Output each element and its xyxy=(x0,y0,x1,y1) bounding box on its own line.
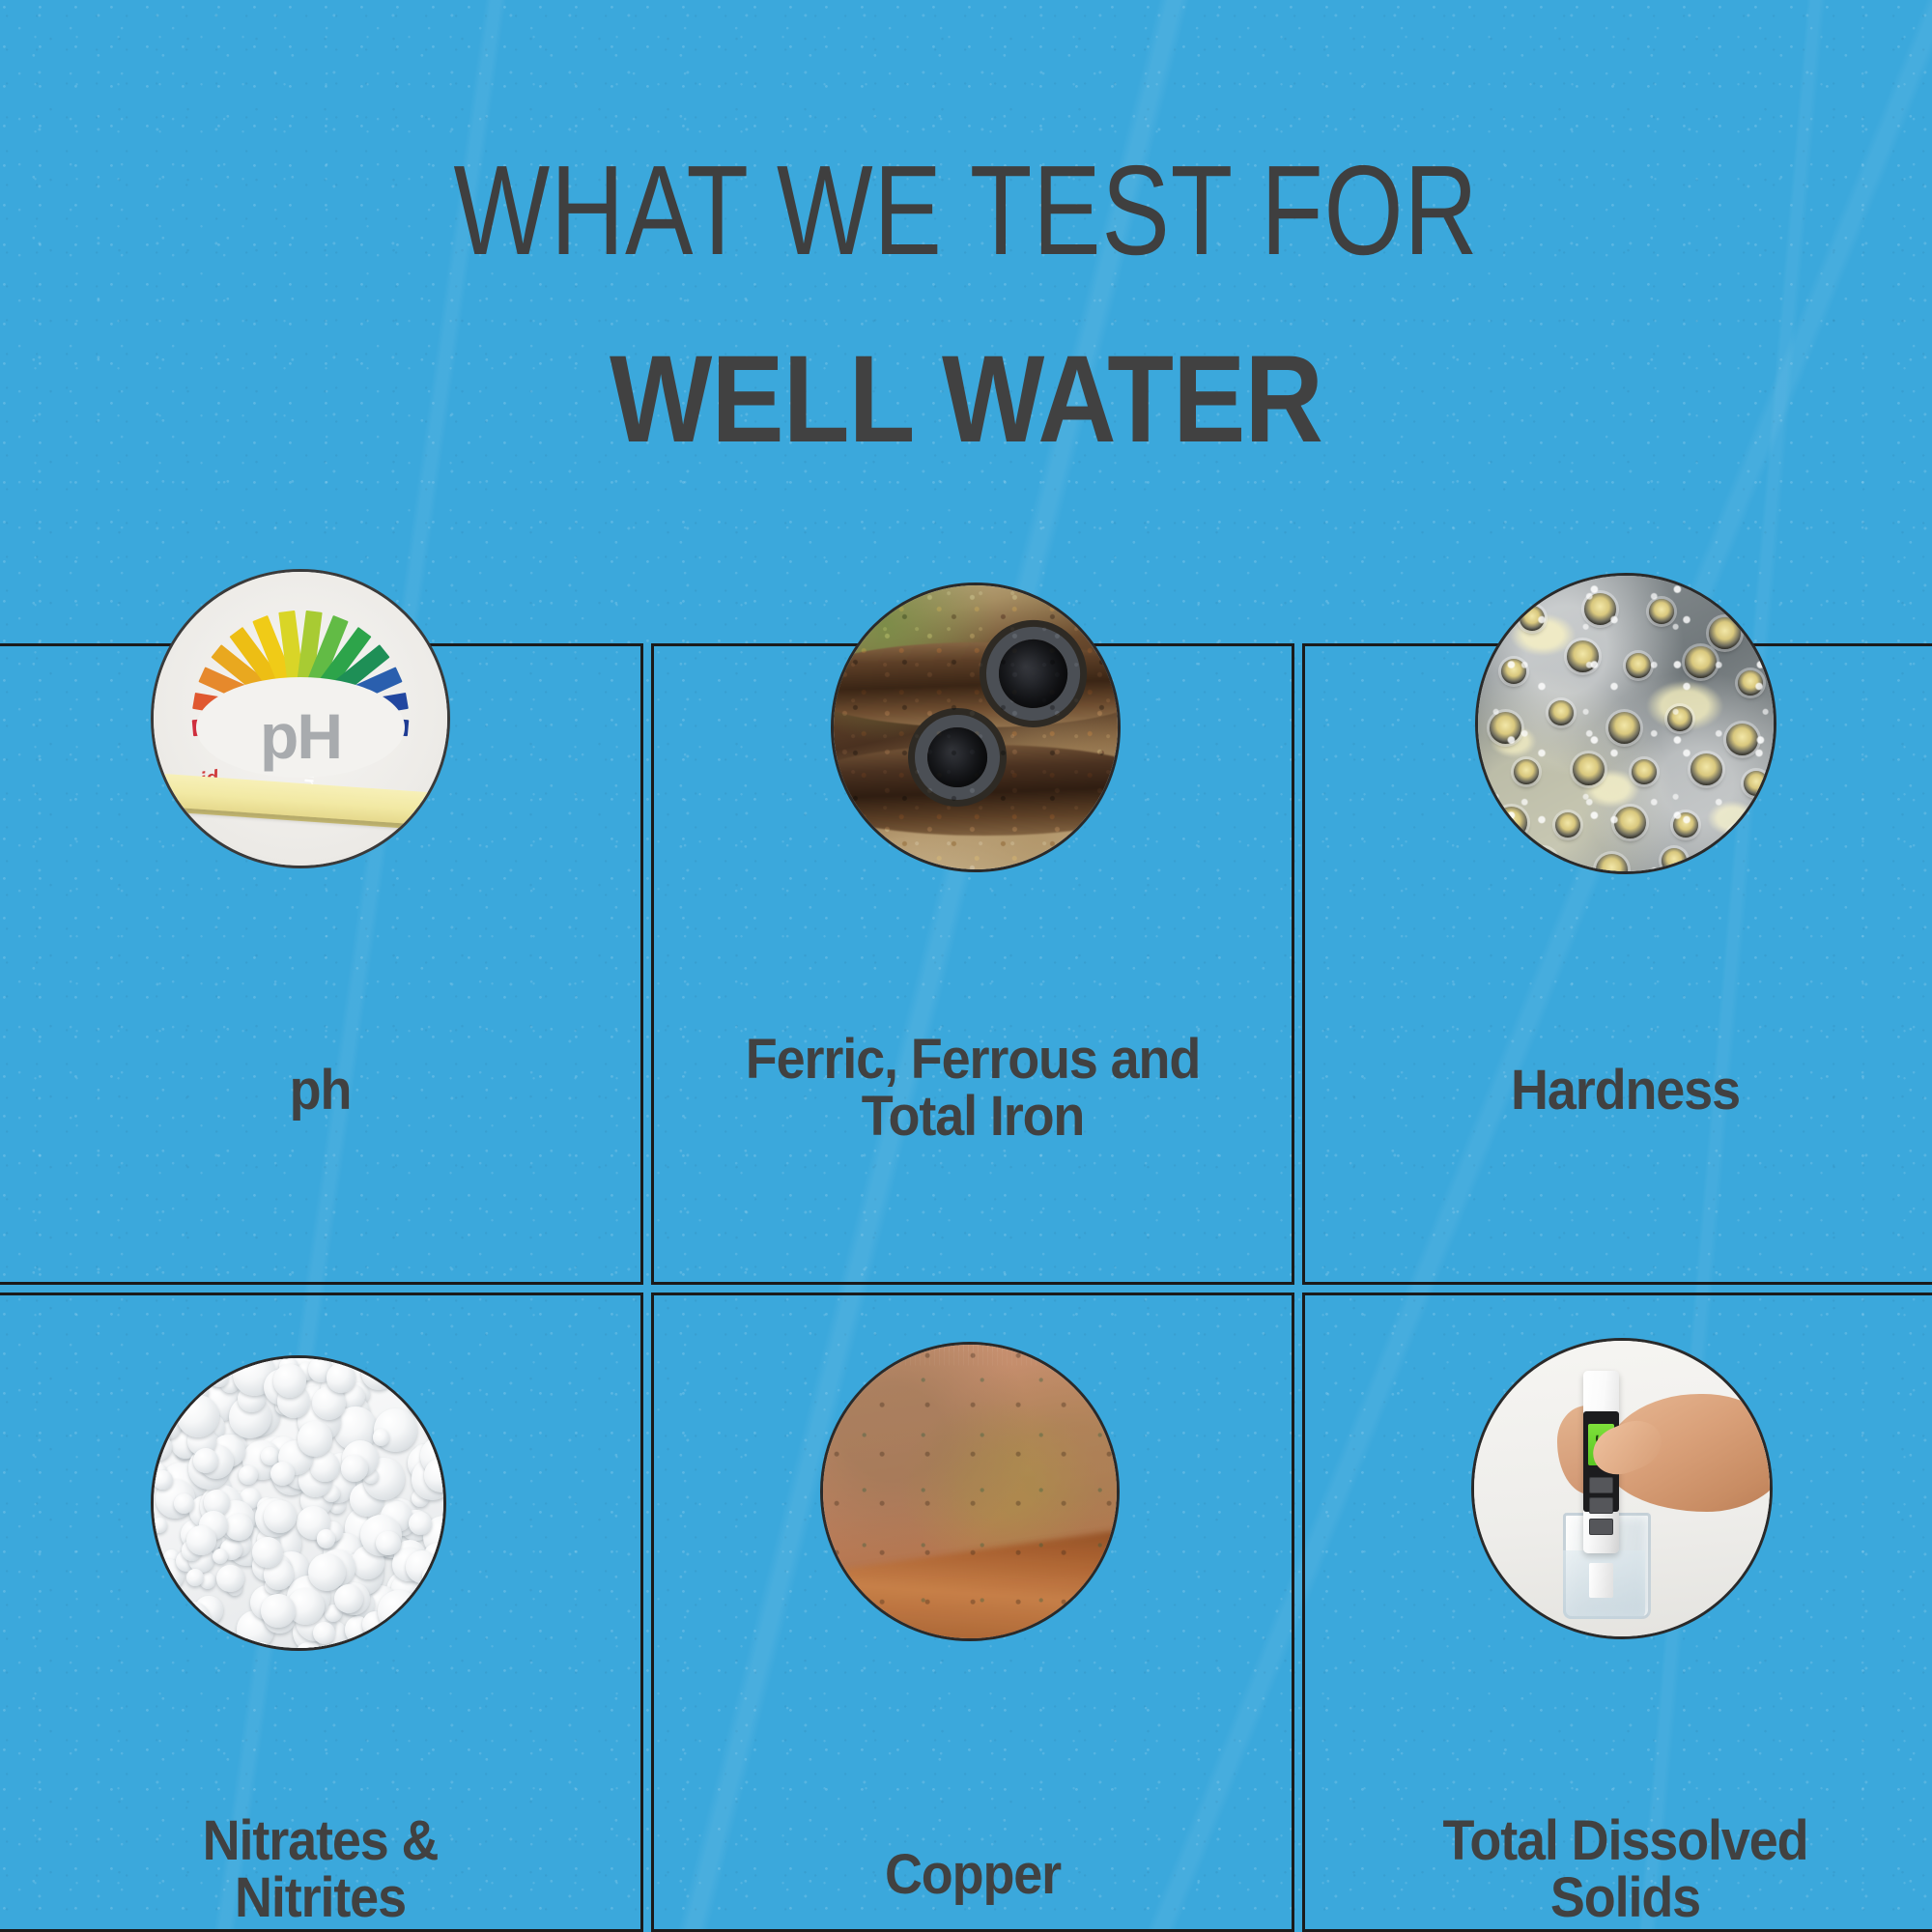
caption-iron-line1: Ferric, Ferrous and xyxy=(746,1028,1200,1091)
prill xyxy=(419,1591,444,1616)
prill xyxy=(341,1455,368,1482)
rusty-corroded-pipe-photo xyxy=(831,582,1121,872)
prill xyxy=(270,1462,296,1487)
prill xyxy=(298,1421,332,1456)
prill xyxy=(181,1359,205,1383)
caption-iron-line2: Total Iron xyxy=(862,1085,1085,1148)
prill xyxy=(376,1531,400,1555)
grid-cell-copper[interactable]: Copper xyxy=(651,1293,1294,1932)
prill xyxy=(409,1512,432,1535)
white-fertilizer-prills-photo xyxy=(151,1355,446,1651)
caption-hardness: Hardness xyxy=(1327,1062,1923,1119)
caption-tds-line2: Solids xyxy=(1550,1866,1700,1929)
prill xyxy=(252,1537,283,1568)
prill xyxy=(186,1569,204,1586)
grid-cell-hardness[interactable]: Hardness xyxy=(1302,643,1932,1285)
prill xyxy=(373,1429,390,1446)
limescale-shower-head-photo xyxy=(1475,573,1776,874)
prill xyxy=(216,1565,243,1592)
tds-meter-in-glass-photo: 32 xyxy=(1471,1338,1773,1639)
prill xyxy=(186,1525,216,1555)
prill xyxy=(378,1590,420,1633)
caption-nitrates-line1: Nitrates & xyxy=(203,1809,439,1872)
grid-cell-ph[interactable]: 12345678910111213undefined pH Acid Alkal… xyxy=(0,643,643,1285)
header: WHAT WE TEST FOR WELL WATER xyxy=(0,0,1932,638)
prill xyxy=(384,1356,418,1390)
caption-tds-line1: Total Dissolved xyxy=(1443,1809,1808,1872)
prill xyxy=(225,1514,253,1542)
prill xyxy=(209,1367,229,1387)
caption-nitrates-line2: Nitrites xyxy=(235,1866,406,1929)
prill xyxy=(261,1594,295,1628)
page-subtitle: WELL WATER xyxy=(116,338,1816,462)
caption-iron: Ferric, Ferrous and Total Iron xyxy=(676,1031,1269,1145)
caption-tds: Total Dissolved Solids xyxy=(1327,1812,1923,1926)
prill xyxy=(310,1452,340,1482)
copper-patina-surface-photo xyxy=(820,1342,1120,1641)
prill xyxy=(158,1392,180,1413)
caption-ph: ph xyxy=(22,1062,618,1119)
prill xyxy=(177,1395,219,1437)
grid-cell-iron[interactable]: Ferric, Ferrous and Total Iron xyxy=(651,643,1294,1285)
prill xyxy=(239,1465,258,1485)
grid-cell-tds[interactable]: 32 Total Dissolved Solids xyxy=(1302,1293,1932,1932)
prill xyxy=(153,1470,173,1491)
caption-copper: Copper xyxy=(676,1846,1269,1903)
prill xyxy=(327,1363,356,1393)
prill xyxy=(273,1364,307,1398)
prill xyxy=(422,1568,439,1584)
prill xyxy=(152,1518,167,1533)
caption-nitrates: Nitrates & Nitrites xyxy=(22,1812,618,1926)
prill xyxy=(193,1448,218,1473)
ph-test-color-chart-photo: 12345678910111213undefined pH Acid Alkal… xyxy=(151,569,450,868)
ph-card-word: pH xyxy=(260,699,341,773)
prill xyxy=(174,1493,194,1514)
test-grid: 12345678910111213undefined pH Acid Alkal… xyxy=(0,643,1932,1932)
prill xyxy=(317,1529,336,1548)
grid-cell-nitrates[interactable]: Nitrates & Nitrites xyxy=(0,1293,643,1932)
page-title: WHAT WE TEST FOR xyxy=(193,147,1739,274)
